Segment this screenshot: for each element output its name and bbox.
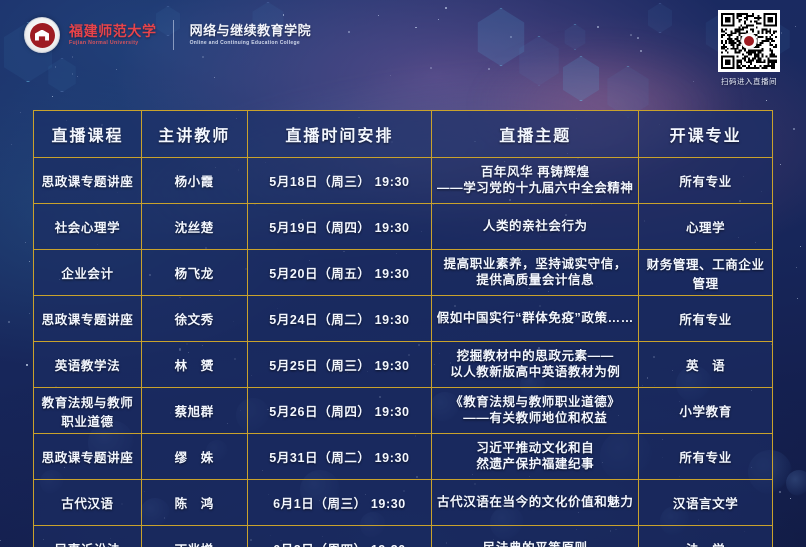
table-row: 英语教学法林 赟5月25日（周三） 19:30挖掘教材中的思政元素——以人教新版…: [34, 342, 773, 388]
cell-teacher: 杨小霞: [141, 158, 247, 204]
cell-topic: 提高职业素养，坚持诚实守信，提供高质量会计信息: [432, 250, 639, 296]
column-header-major: 开课专业: [639, 111, 773, 158]
cell-major: 所有专业: [639, 434, 773, 480]
cell-topic-line1: 提高职业素养，坚持诚实守信，: [436, 257, 634, 273]
cell-course: 思政课专题讲座: [34, 296, 142, 342]
cell-topic-line1: 习近平推动文化和自: [436, 441, 634, 457]
cell-topic-line2: 然遗产保护福建纪事: [436, 457, 634, 473]
cell-topic-line1: 古代汉语在当今的文化价值和魅力: [436, 495, 634, 511]
cell-teacher: 蔡旭群: [141, 388, 247, 434]
cell-time: 5月20日（周五） 19:30: [247, 250, 432, 296]
table-body: 思政课专题讲座杨小霞5月18日（周三） 19:30百年风华 再铸辉煌——学习党的…: [34, 158, 773, 547]
cell-major: 小学教育: [639, 388, 773, 434]
cell-teacher: 徐文秀: [141, 296, 247, 342]
university-name-cn: 福建师范大学: [69, 24, 157, 39]
cell-topic-line2: ——有关教师地位和权益: [436, 411, 634, 427]
cell-topic-line1: 民法典的平等原则: [436, 541, 634, 547]
cell-topic-line1: 挖掘教材中的思政元素——: [436, 349, 634, 365]
cell-teacher: 林 赟: [141, 342, 247, 388]
university-name-en: Fujian Normal University: [69, 40, 157, 46]
column-header-course: 直播课程: [34, 111, 142, 158]
table-row: 思政课专题讲座杨小霞5月18日（周三） 19:30百年风华 再铸辉煌——学习党的…: [34, 158, 773, 204]
college-name-cn: 网络与继续教育学院: [190, 24, 312, 38]
table-row: 古代汉语陈 鸿6月1日（周三） 19:30古代汉语在当今的文化价值和魅力汉语言文…: [34, 480, 773, 526]
cell-major: 汉语言文学: [639, 480, 773, 526]
cell-major: 所有专业: [639, 158, 773, 204]
cell-topic: 百年风华 再铸辉煌——学习党的十九届六中全会精神: [432, 158, 639, 204]
cell-teacher: 沈丝楚: [141, 204, 247, 250]
cell-time: 5月26日（周四） 19:30: [247, 388, 432, 434]
cell-time: 5月19日（周四） 19:30: [247, 204, 432, 250]
cell-major: 心理学: [639, 204, 773, 250]
qr-center-logo-icon: [741, 33, 757, 49]
cell-teacher: 缪 姝: [141, 434, 247, 480]
table-row: 企业会计杨飞龙5月20日（周五） 19:30提高职业素养，坚持诚实守信，提供高质…: [34, 250, 773, 296]
table-row: 民事诉讼法丁兆增6月2日（周四） 19:30民法典的平等原则法 学: [34, 526, 773, 547]
cell-time: 5月31日（周二） 19:30: [247, 434, 432, 480]
cell-major: 法 学: [639, 526, 773, 547]
cell-major: 英 语: [639, 342, 773, 388]
table-row: 教育法规与教师职业道德蔡旭群5月26日（周四） 19:30《教育法规与教师职业道…: [34, 388, 773, 434]
cell-topic: 《教育法规与教师职业道德》——有关教师地位和权益: [432, 388, 639, 434]
cell-major: 所有专业: [639, 296, 773, 342]
table-row: 思政课专题讲座缪 姝5月31日（周二） 19:30习近平推动文化和自然遗产保护福…: [34, 434, 773, 480]
cell-course: 民事诉讼法: [34, 526, 142, 547]
cell-topic: 民法典的平等原则: [432, 526, 639, 547]
table-header-row: 直播课程 主讲教师 直播时间安排 直播主题 开课专业: [34, 111, 773, 158]
schedule-table-container: 直播课程 主讲教师 直播时间安排 直播主题 开课专业 思政课专题讲座杨小霞5月1…: [33, 110, 773, 547]
cell-course: 思政课专题讲座: [34, 434, 142, 480]
cell-topic: 假如中国实行“群体免疫”政策……: [432, 296, 639, 342]
cell-topic: 人类的亲社会行为: [432, 204, 639, 250]
table-row: 社会心理学沈丝楚5月19日（周四） 19:30人类的亲社会行为心理学: [34, 204, 773, 250]
cell-course: 教育法规与教师职业道德: [34, 388, 142, 434]
cell-topic-line1: 假如中国实行“群体免疫”政策……: [436, 311, 634, 327]
cell-time: 6月1日（周三） 19:30: [247, 480, 432, 526]
qr-code-block[interactable]: 扫码进入直播间: [718, 10, 780, 87]
column-header-topic: 直播主题: [432, 111, 639, 158]
table-row: 思政课专题讲座徐文秀5月24日（周二） 19:30假如中国实行“群体免疫”政策……: [34, 296, 773, 342]
university-seal-icon: [24, 17, 60, 53]
cell-time: 5月18日（周三） 19:30: [247, 158, 432, 204]
cell-time: 6月2日（周四） 19:30: [247, 526, 432, 547]
cell-topic: 古代汉语在当今的文化价值和魅力: [432, 480, 639, 526]
brand-logo: 福建师范大学 Fujian Normal University 网络与继续教育学…: [24, 17, 311, 53]
cell-topic-line2: 以人教新版高中英语教材为例: [436, 365, 634, 381]
cell-course: 社会心理学: [34, 204, 142, 250]
cell-course: 思政课专题讲座: [34, 158, 142, 204]
cell-major: 财务管理、工商企业管理: [639, 250, 773, 296]
cell-teacher: 丁兆增: [141, 526, 247, 547]
cell-topic: 挖掘教材中的思政元素——以人教新版高中英语教材为例: [432, 342, 639, 388]
cell-topic: 习近平推动文化和自然遗产保护福建纪事: [432, 434, 639, 480]
cell-time: 5月24日（周二） 19:30: [247, 296, 432, 342]
cell-topic-line1: 人类的亲社会行为: [436, 219, 634, 235]
cell-teacher: 陈 鸿: [141, 480, 247, 526]
qr-caption: 扫码进入直播间: [721, 76, 777, 87]
cell-time: 5月25日（周三） 19:30: [247, 342, 432, 388]
qr-code-image[interactable]: [718, 10, 780, 72]
cell-course: 企业会计: [34, 250, 142, 296]
cell-topic-line2: 提供高质量会计信息: [436, 273, 634, 289]
cell-topic-line1: 百年风华 再铸辉煌: [436, 165, 634, 181]
college-name-en: Online and Continuing Education College: [190, 40, 312, 46]
column-header-teacher: 主讲教师: [141, 111, 247, 158]
schedule-table: 直播课程 主讲教师 直播时间安排 直播主题 开课专业 思政课专题讲座杨小霞5月1…: [33, 110, 773, 547]
brand-divider: [173, 20, 174, 50]
cell-topic-line2: ——学习党的十九届六中全会精神: [436, 181, 634, 197]
cell-course: 古代汉语: [34, 480, 142, 526]
cell-topic-line1: 《教育法规与教师职业道德》: [436, 395, 634, 411]
cell-teacher: 杨飞龙: [141, 250, 247, 296]
cell-course: 英语教学法: [34, 342, 142, 388]
column-header-time: 直播时间安排: [247, 111, 432, 158]
livestream-schedule-poster: 福建师范大学 Fujian Normal University 网络与继续教育学…: [0, 0, 806, 547]
